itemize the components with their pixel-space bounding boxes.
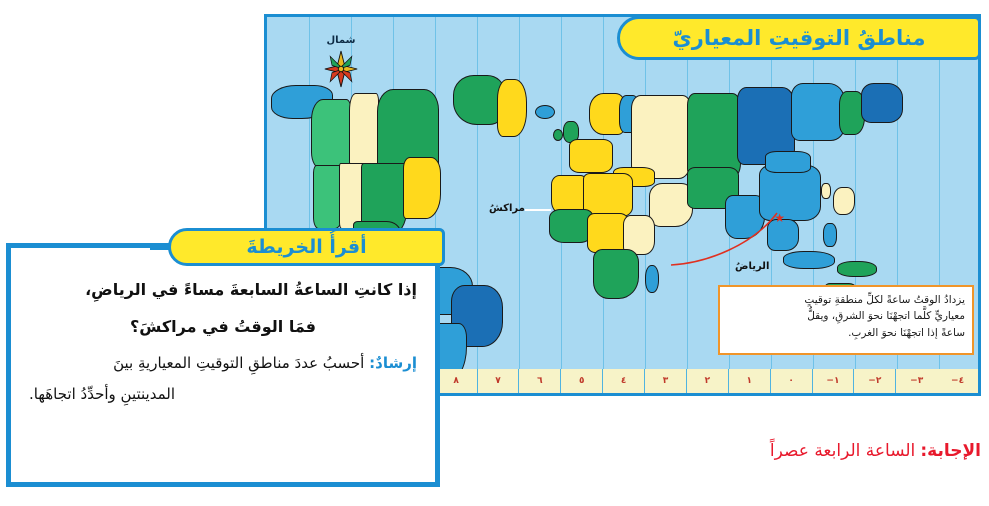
question-card: إذا كانتِ الساعةُ السابعةَ مساءً ﻓﻲ الري…	[6, 243, 440, 487]
hint-line-2: المدينتينِ وأحدِّدُ اتجاهَها.	[29, 383, 417, 406]
answer-row: الإجابة: الساعة الرابعة عصراً	[560, 441, 981, 473]
axis-tick: ٣−	[895, 369, 937, 393]
landmass-canada-central	[349, 93, 379, 173]
axis-tick: ١−	[812, 369, 854, 393]
landmass-greenland-east	[497, 79, 527, 137]
axis-tick: ٤	[602, 369, 644, 393]
landmass-southern-africa	[593, 249, 639, 299]
landmass-japan	[833, 187, 855, 215]
axis-tick: ٢−	[853, 369, 895, 393]
landmass-new-guinea	[837, 261, 877, 277]
landmass-madagascar	[645, 265, 659, 293]
landmass-siberia-far-east	[791, 83, 845, 141]
axis-tick: ٧	[477, 369, 519, 393]
riyadh-location-marker: ★	[775, 213, 785, 223]
answer-value: الساعة الرابعة عصراً	[770, 441, 915, 461]
compass-rose: شمال	[313, 35, 369, 97]
landmass-usa-east	[403, 157, 441, 219]
question-banner-label: أقرأُ الخريطةَ	[246, 236, 366, 258]
axis-tick: ٦	[518, 369, 560, 393]
landmass-canada-west	[311, 99, 351, 169]
page-title: مناطقُ التوقيتِ المعياريّ	[673, 26, 926, 50]
leader-line-riyadh	[667, 207, 787, 269]
landmass-mongolia	[765, 151, 811, 173]
leader-line-marrakesh	[525, 209, 551, 211]
compass-north-label: شمال	[313, 35, 369, 46]
landmass-korea	[821, 183, 831, 199]
info-box: يزدادُ الوقتُ ساعةً لكلِّ منطقةِ توقيتٍ …	[718, 285, 974, 355]
question-line-2: فمَا الوقتُ ﻓﻲ مراكشَ؟	[29, 315, 417, 339]
page-title-banner: مناطقُ التوقيتِ المعياريّ	[617, 16, 981, 60]
axis-tick: ٥	[560, 369, 602, 393]
axis-tick: ٣	[644, 369, 686, 393]
axis-tick: ٢	[686, 369, 728, 393]
question-banner: أقرأُ الخريطةَ	[168, 228, 445, 266]
axis-tick: ٤−	[937, 369, 978, 393]
landmass-chukotka	[861, 83, 903, 123]
hint-body: أحسبُ عددَ مناطقِ التوقيتِ المعياريةِ بي…	[113, 354, 364, 372]
answer-label: الإجابة:	[920, 441, 981, 461]
axis-tick: ١	[728, 369, 770, 393]
axis-tick: ٨	[435, 369, 477, 393]
landmass-iceland	[535, 105, 555, 119]
landmass-indonesia	[783, 251, 835, 269]
hint-line-1: إرشادٌ: أحسبُ عددَ مناطقِ التوقيتِ المعي…	[29, 352, 417, 375]
info-box-line3: ساعةً إذا اتجهْنَا نحوَ الغربِ.	[727, 325, 965, 341]
axis-tick: ٠	[770, 369, 812, 393]
compass-rose-icon	[323, 49, 359, 89]
question-line-1: إذا كانتِ الساعةُ السابعةَ مساءً ﻓﻲ الري…	[29, 278, 417, 302]
hint-keyword: إرشادٌ:	[369, 354, 417, 372]
landmass-western-europe	[569, 139, 613, 173]
landmass-ireland	[553, 129, 563, 141]
info-box-line2: معياريٍّ كلَّما اتجهْنَا نحوَ الشرقِ، وي…	[727, 308, 965, 324]
city-label-marrakesh: مراكشُ	[489, 203, 525, 214]
landmass-philippines	[823, 223, 837, 247]
info-box-line1: يزدادُ الوقتُ ساعةً لكلِّ منطقةِ توقيتٍ	[727, 292, 965, 308]
meridian-line	[645, 17, 646, 393]
